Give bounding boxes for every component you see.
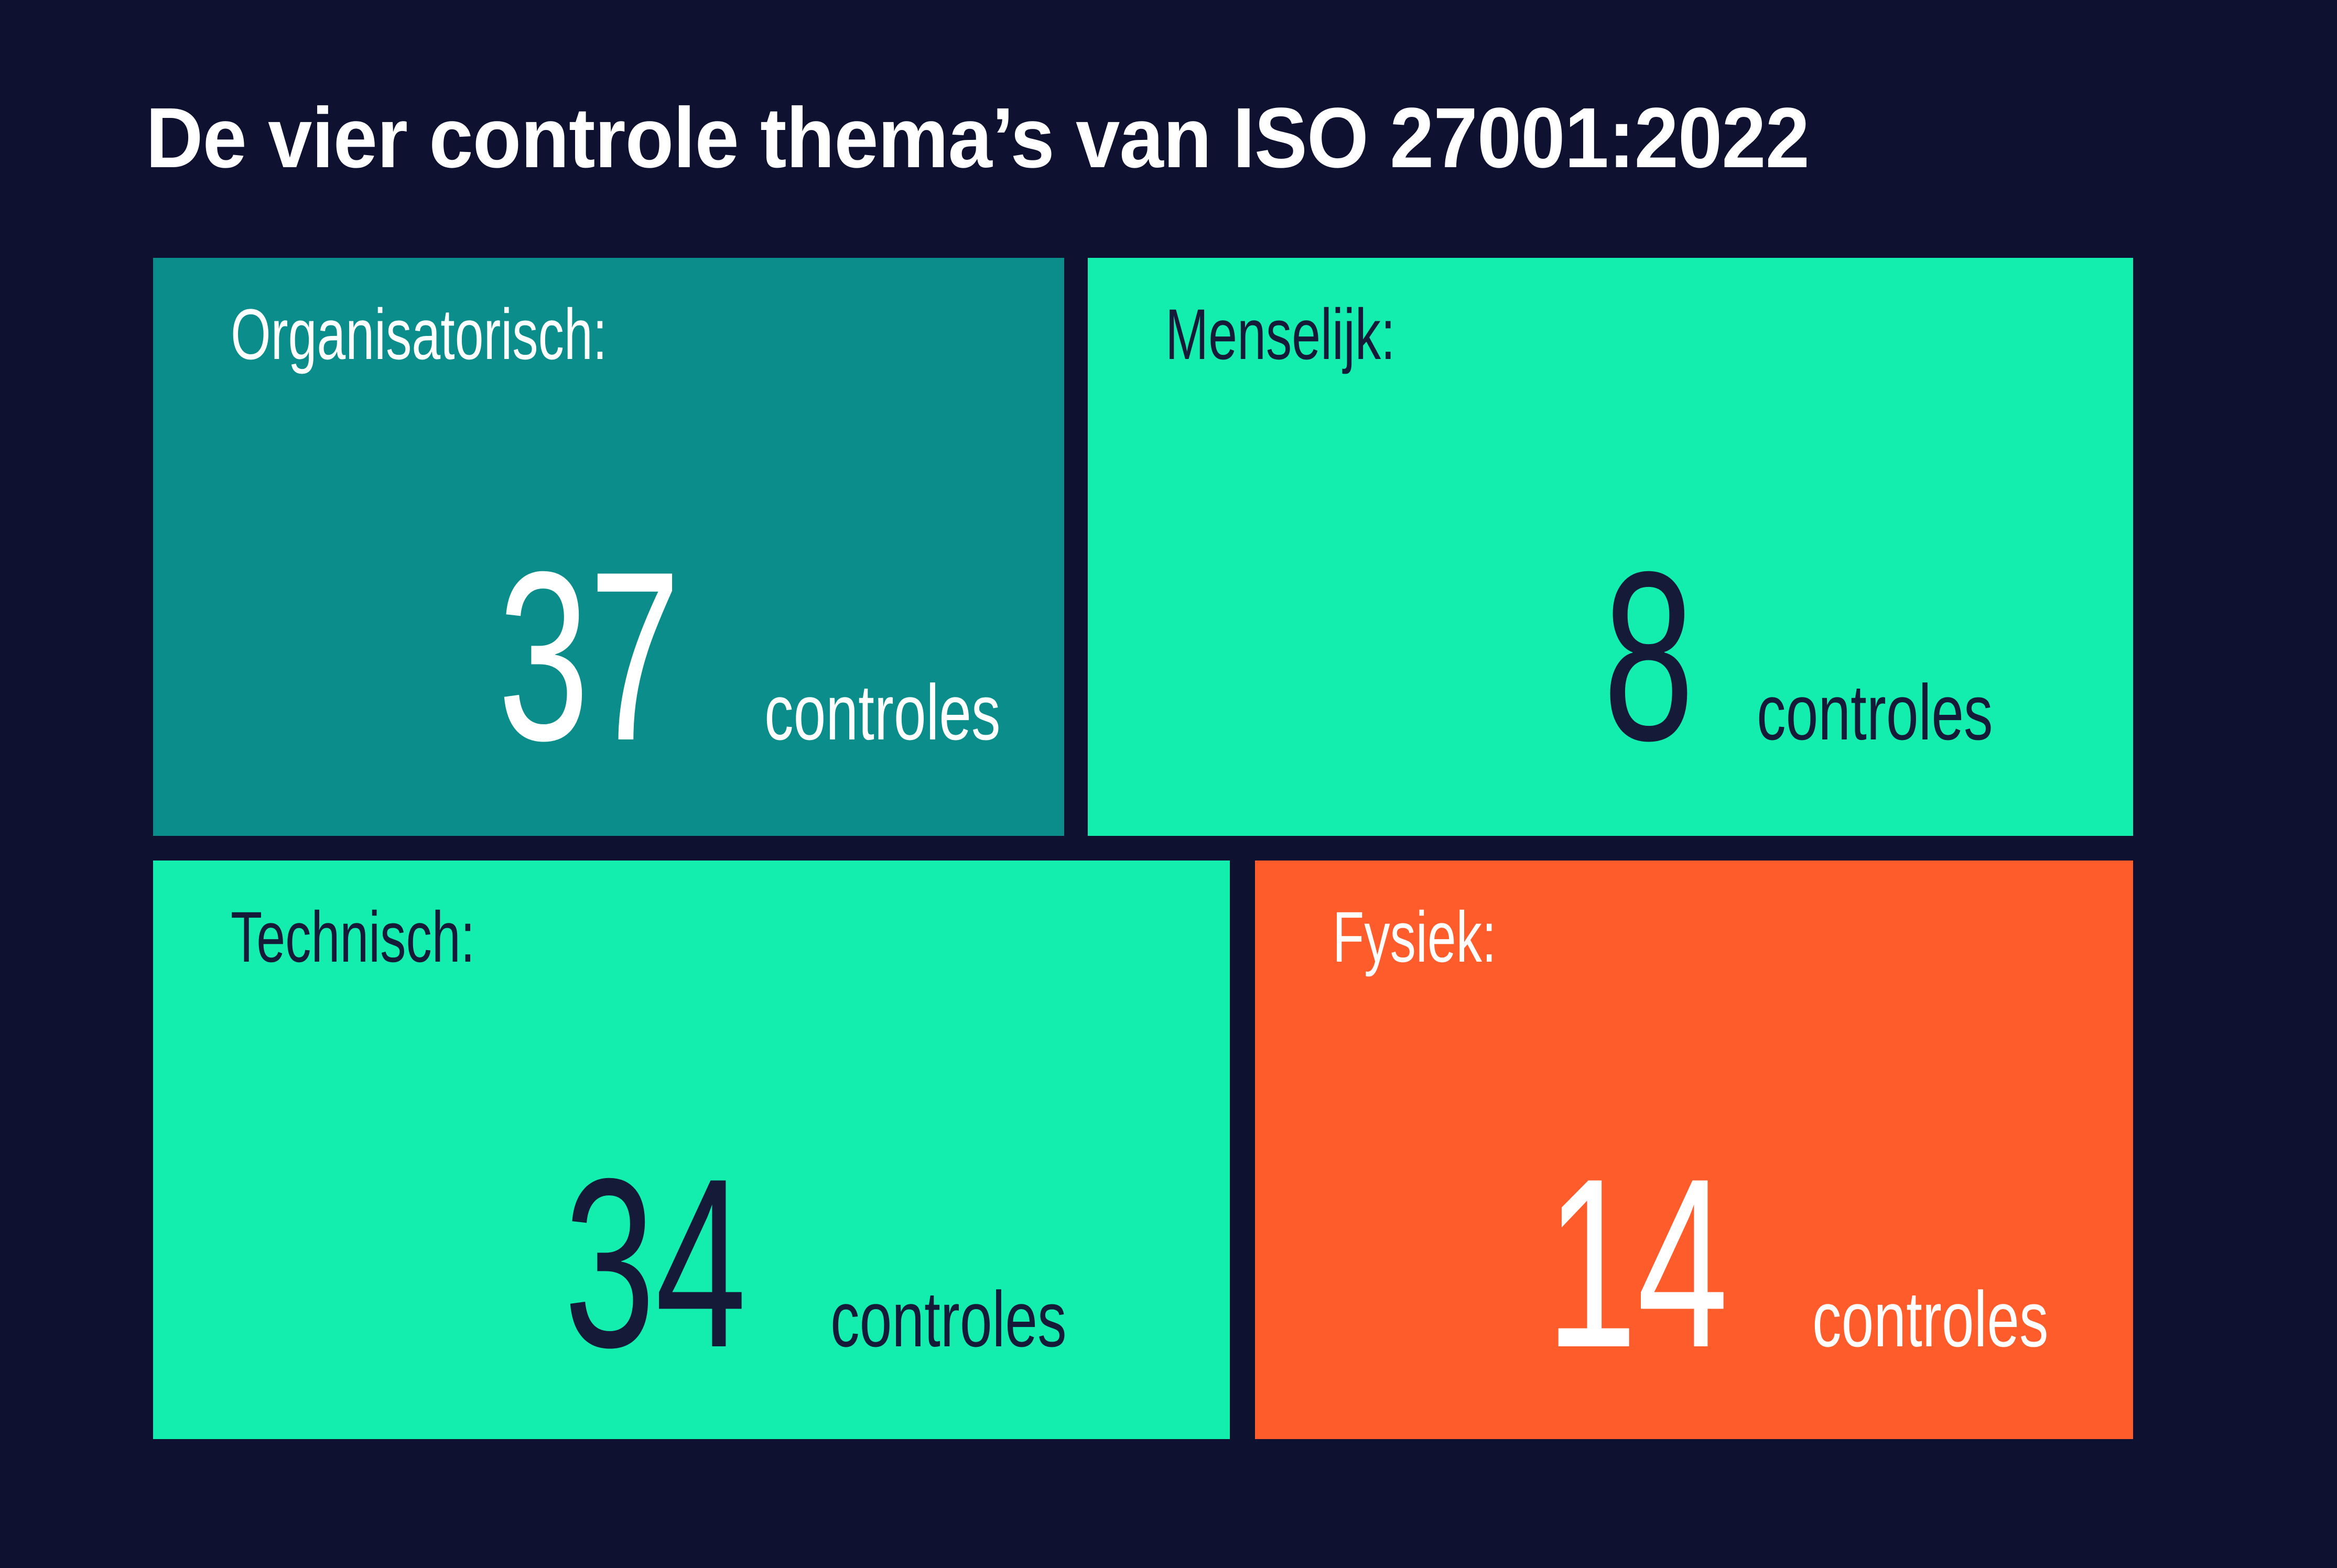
card-menselijk-unit: controles (1757, 673, 1993, 752)
card-fysiek-label: Fysiek: (1333, 898, 1496, 977)
card-organisatorisch-label: Organisatorisch: (231, 296, 607, 374)
card-organisatorisch-figure: 37 controles (455, 536, 1042, 777)
card-menselijk-figure: 8 controles (1582, 536, 2035, 777)
card-menselijk-count: 8 (1603, 536, 1694, 777)
card-technisch-figure: 34 controles (521, 1143, 1108, 1384)
card-fysiek-count: 14 (1546, 1143, 1728, 1384)
card-menselijk-label: Menselijk: (1165, 296, 1395, 374)
card-technisch: Technisch: 34 controles (153, 861, 1230, 1439)
card-fysiek-unit: controles (1812, 1280, 2048, 1358)
card-technisch-count: 34 (564, 1143, 746, 1384)
card-fysiek: Fysiek: 14 controles (1255, 861, 2133, 1439)
card-technisch-label: Technisch: (231, 898, 475, 977)
card-organisatorisch-unit: controles (764, 673, 1000, 752)
card-fysiek-figure: 14 controles (1503, 1143, 2090, 1384)
page-title: De vier controle thema’s van ISO 27001:2… (146, 88, 2047, 188)
card-organisatorisch-count: 37 (498, 536, 680, 777)
card-menselijk: Menselijk: 8 controles (1088, 258, 2133, 836)
card-technisch-unit: controles (830, 1280, 1066, 1358)
infographic-canvas: De vier controle thema’s van ISO 27001:2… (0, 0, 2337, 1568)
card-organisatorisch: Organisatorisch: 37 controles (153, 258, 1064, 836)
